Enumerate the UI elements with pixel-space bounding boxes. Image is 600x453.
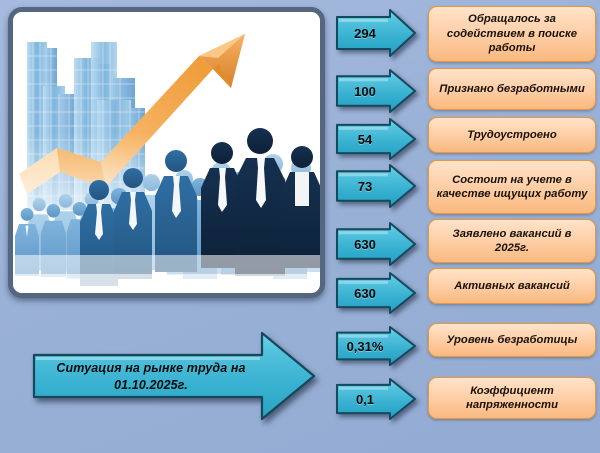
metric-label: Уровень безработицы bbox=[428, 323, 596, 357]
metric-value: 73 bbox=[336, 163, 394, 209]
metric-label: Состоит на учете в качестве ищущих работ… bbox=[428, 160, 596, 214]
metric-arrow: 73 bbox=[334, 163, 418, 209]
photo-frame bbox=[8, 7, 325, 298]
metric-value: 54 bbox=[336, 117, 394, 161]
metric-label: Трудоустроено bbox=[428, 117, 596, 153]
title-arrow-text: Ситуация на рынке труда на 01.10.2025г. bbox=[42, 354, 260, 400]
metric-value: 100 bbox=[336, 68, 394, 114]
metric-arrow: 294 bbox=[334, 8, 418, 58]
title-arrow-banner: Ситуация на рынке труда на 01.10.2025г. bbox=[18, 330, 318, 422]
metric-arrow: 630 bbox=[334, 271, 418, 315]
metric-value: 0,1 bbox=[336, 377, 394, 421]
metric-arrow: 630 bbox=[334, 221, 418, 267]
metric-arrow: 0,31% bbox=[334, 325, 418, 367]
metric-label: Активных вакансий bbox=[428, 268, 596, 304]
metric-label: Коэффициент напряженности bbox=[428, 377, 596, 419]
metric-label: Признано безработными bbox=[428, 68, 596, 110]
slide-canvas: Ситуация на рынке труда на 01.10.2025г. … bbox=[0, 0, 600, 453]
metric-value: 0,31% bbox=[336, 325, 394, 367]
title-line-1: Ситуация на рынке труда на bbox=[56, 361, 245, 375]
title-line-2: 01.10.2025г. bbox=[114, 378, 188, 392]
metric-value: 630 bbox=[336, 271, 394, 315]
metric-value: 294 bbox=[336, 8, 394, 58]
metric-label: Обращалось за содействием в поиске работ… bbox=[428, 6, 596, 62]
metric-value: 630 bbox=[336, 221, 394, 267]
metric-arrow: 100 bbox=[334, 68, 418, 114]
metric-arrow: 0,1 bbox=[334, 377, 418, 421]
metric-arrow: 54 bbox=[334, 117, 418, 161]
business-growth-illustration bbox=[13, 12, 320, 293]
photo-image bbox=[13, 12, 320, 293]
metric-label: Заявлено вакансий в 2025г. bbox=[428, 219, 596, 263]
